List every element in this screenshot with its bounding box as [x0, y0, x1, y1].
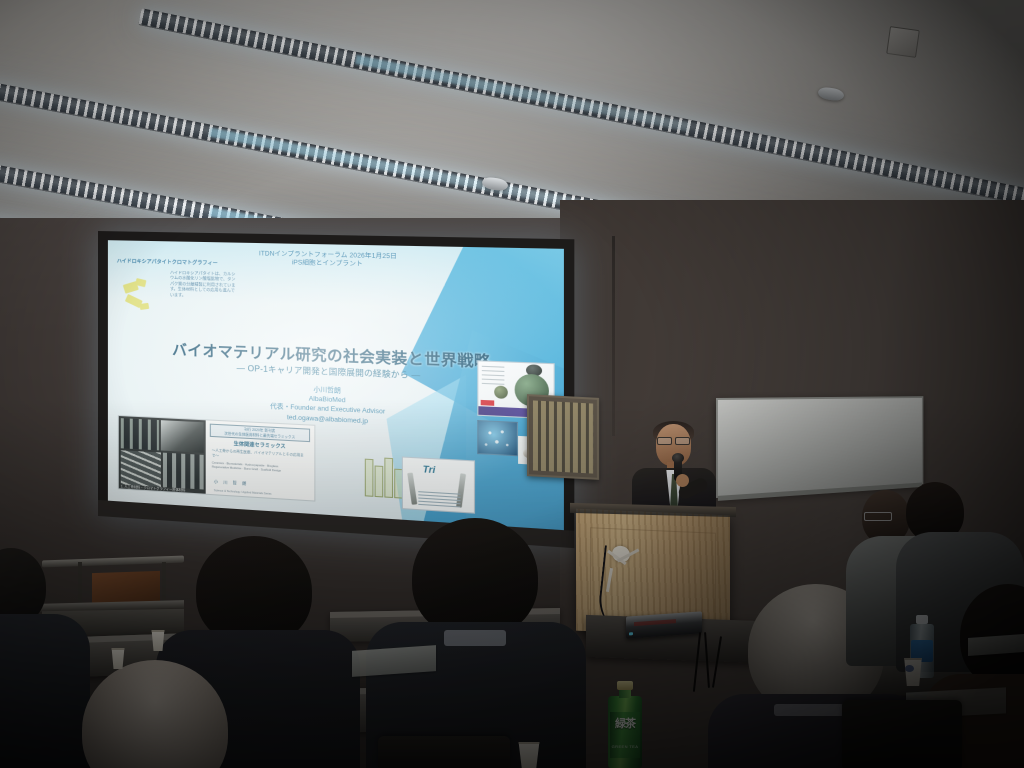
cart-post — [78, 562, 82, 604]
bottle-label-text: 緑茶 — [610, 718, 640, 730]
conference-photo: ITDNインプラントフォーラム 2026年1月25日 iPS細胞とインプラント … — [0, 0, 1024, 768]
book-text-side: 刊行 2020年 新刊書 次世代の生体医用材料と最先端セラミックス 生体関連セラ… — [206, 420, 315, 500]
book-cover-panel: 1. 人工骨材料・クロマトグラフィー担体材料 刊行 2020年 新刊書 次世代の… — [118, 415, 316, 502]
glasses-icon — [864, 512, 892, 521]
glasses-icon — [656, 437, 691, 443]
microphone-icon — [672, 453, 684, 463]
blue-micrograph-thumbnail — [477, 420, 518, 456]
collage-image-1 — [161, 420, 204, 453]
framed-grid-artwork — [527, 394, 599, 480]
attendee-head — [412, 518, 538, 638]
bottle-label-sub: GREEN TEA — [610, 744, 640, 749]
water-bottle-cap — [916, 615, 928, 624]
laptop-led-icon — [629, 632, 633, 635]
collage-image-2 — [121, 450, 161, 487]
bottle-cap — [617, 681, 633, 690]
chair-back — [842, 700, 962, 768]
collage-cell-grid — [121, 418, 159, 450]
artwork-grid-pattern — [533, 400, 593, 473]
brochure-text-lines — [418, 491, 460, 508]
book-photo-collage: 1. 人工骨材料・クロマトグラフィー担体材料 — [119, 416, 206, 494]
attendee-shoulders — [0, 614, 90, 768]
tri-implant-brochure-thumbnail: Tri — [402, 456, 475, 513]
chair-back — [378, 736, 510, 768]
wall-seam — [612, 236, 615, 436]
projected-slide: ITDNインプラントフォーラム 2026年1月25日 iPS細胞とインプラント … — [108, 240, 564, 530]
thumbnail-text-lines — [482, 366, 505, 386]
cup-logo-icon — [905, 665, 914, 672]
laptop-vent-strip — [634, 619, 676, 626]
cart-post — [162, 562, 166, 604]
wall-whiteboard — [716, 396, 923, 498]
bottle-label: 緑茶 GREEN TEA — [610, 712, 640, 758]
sphere-medium — [494, 385, 508, 398]
hydroxyapatite-crystal-icon — [120, 277, 172, 321]
collage-image-3 — [163, 453, 204, 490]
attendee-collar — [774, 704, 844, 716]
presenter-hand — [676, 474, 689, 487]
ceiling-speaker-box — [886, 26, 920, 58]
micrograph-particles — [478, 421, 516, 455]
projection-screen: ITDNインプラントフォーラム 2026年1月25日 iPS細胞とインプラント … — [98, 231, 574, 548]
av-cable-bundle — [690, 632, 754, 702]
brochure-logo: Tri — [423, 464, 436, 475]
attendee-collar — [444, 630, 506, 646]
green-tea-bottle: 緑茶 GREEN TEA — [608, 680, 642, 768]
slide-left-body: ハイドロキシアパタイトは、カルシウムの水酸化リン酸塩鉱物で、タンパク質の分離精製… — [170, 270, 238, 299]
red-tag — [481, 400, 495, 406]
book-contributors: Ceramics · Biomaterials · Hydroxyapatite… — [212, 461, 310, 474]
book-author: 小 川 哲 朗 — [214, 479, 248, 487]
book-publisher: Science & Technology / Applied Materials… — [214, 489, 272, 496]
